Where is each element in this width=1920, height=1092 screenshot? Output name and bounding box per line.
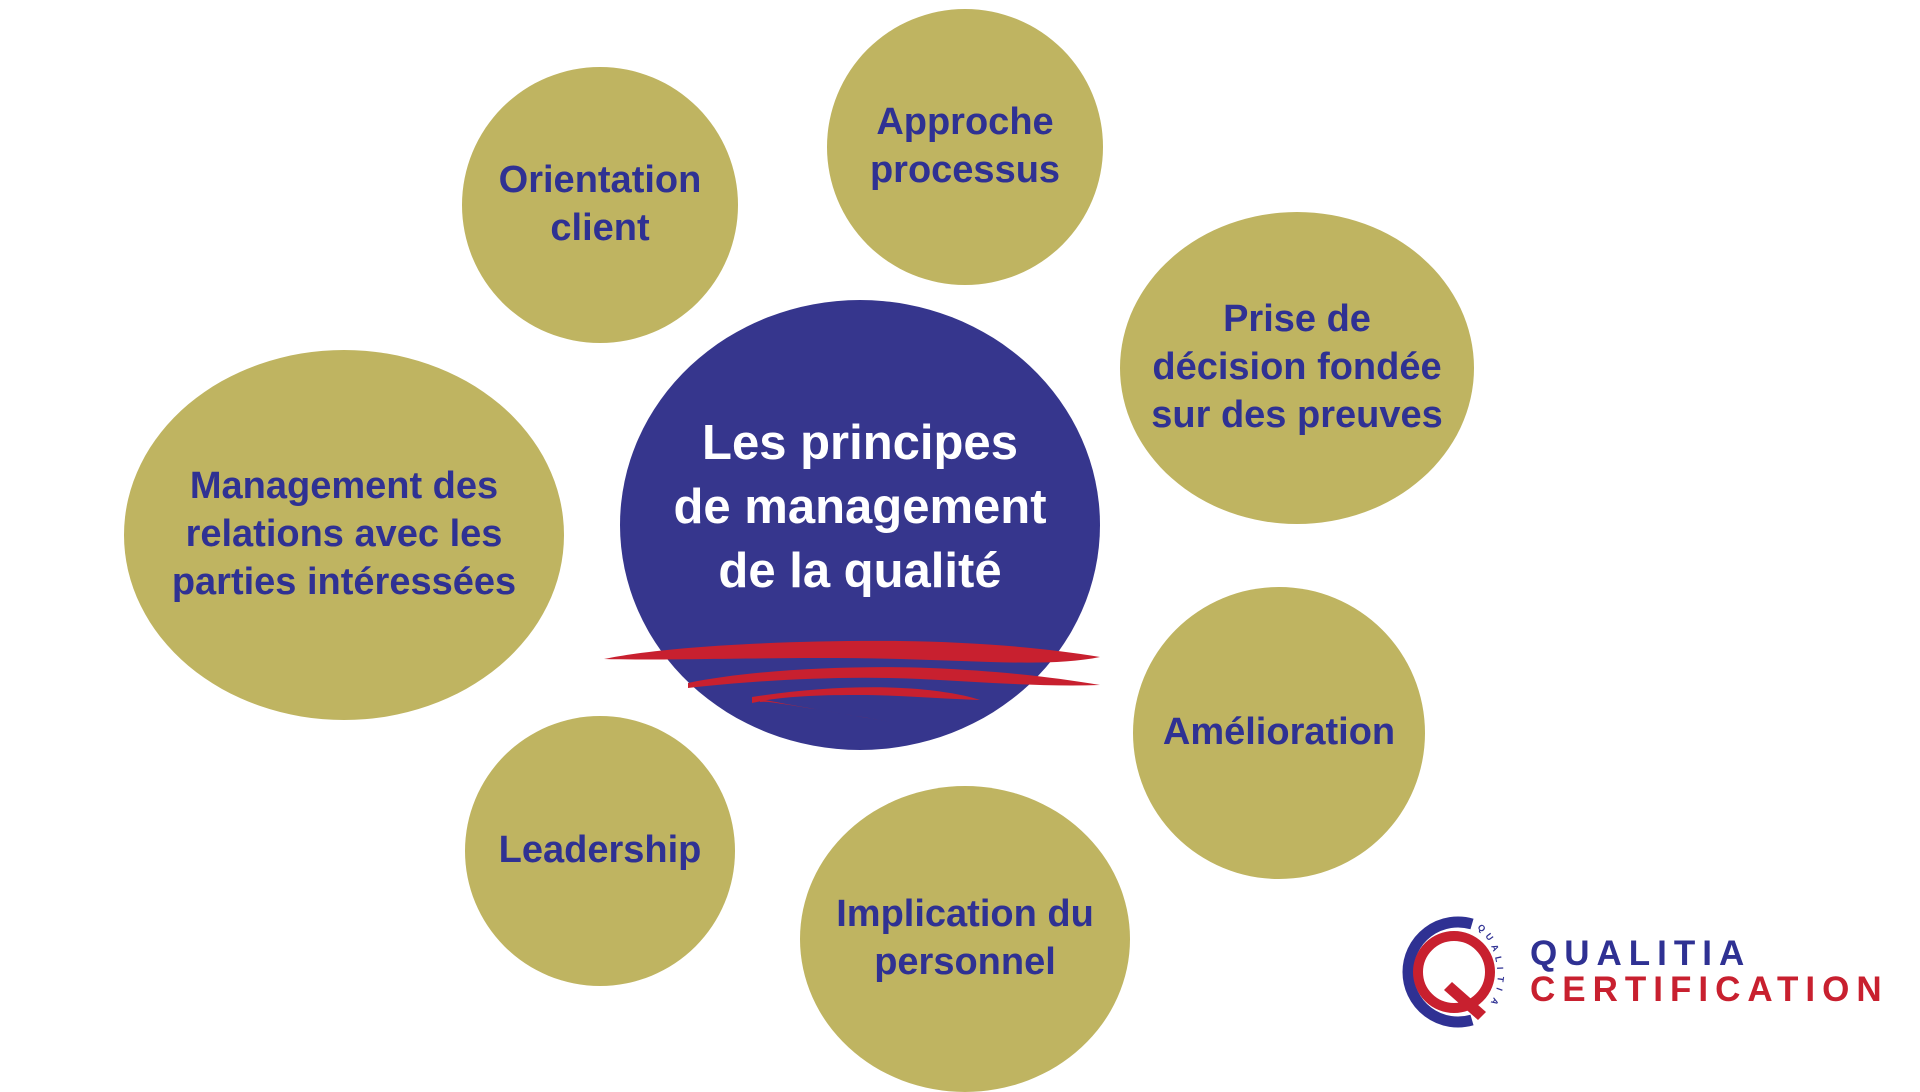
bubble-label: Implication dupersonnel (800, 891, 1130, 987)
svg-text:I: I (1495, 967, 1505, 970)
center-bubble[interactable]: Les principesde managementde la qualité (620, 300, 1100, 750)
svg-text:I: I (1494, 986, 1504, 992)
center-bubble-title: Les principesde managementde la qualité (620, 412, 1100, 637)
bubble-label: Prise dedécision fondéesur des preuves (1120, 296, 1474, 440)
bubble-label: Orientationclient (462, 157, 738, 253)
logo-wordmark-line-certification: CERTIFICATION (1530, 972, 1889, 1008)
qualitia-certification-logo[interactable]: Q U A L I T I A QUALITIA CERTIFICATION (1386, 908, 1889, 1036)
svg-text:L: L (1493, 955, 1504, 963)
bubble-prise-de-decision-fondee-sur-des-preuves[interactable]: Prise dedécision fondéesur des preuves (1120, 212, 1474, 524)
bubble-label: Management desrelations avec lesparties … (124, 463, 564, 607)
diagram-canvas: Orientationclient Approcheprocessus Pris… (0, 0, 1920, 1080)
bubble-amelioration[interactable]: Amélioration (1133, 587, 1425, 879)
bubble-leadership[interactable]: Leadership (465, 716, 735, 986)
bubble-management-des-relations-avec-les-parties-interessees[interactable]: Management desrelations avec lesparties … (124, 350, 564, 720)
svg-text:T: T (1495, 976, 1506, 983)
svg-text:U: U (1483, 931, 1495, 942)
svg-text:Q: Q (1476, 922, 1488, 934)
svg-text:A: A (1489, 996, 1501, 1007)
qualitia-q-monogram-icon: Q U A L I T I A (1386, 908, 1514, 1036)
bubble-label: Amélioration (1133, 709, 1425, 757)
svg-text:A: A (1489, 943, 1501, 953)
bubble-approche-processus[interactable]: Approcheprocessus (827, 9, 1103, 285)
bubble-orientation-client[interactable]: Orientationclient (462, 67, 738, 343)
bubble-implication-du-personnel[interactable]: Implication dupersonnel (800, 786, 1130, 1092)
bubble-label: Approcheprocessus (827, 99, 1103, 195)
logo-wordmark-line-qualitia: QUALITIA (1530, 936, 1889, 972)
bubble-label: Leadership (465, 827, 735, 875)
logo-wordmark: QUALITIA CERTIFICATION (1530, 936, 1889, 1007)
